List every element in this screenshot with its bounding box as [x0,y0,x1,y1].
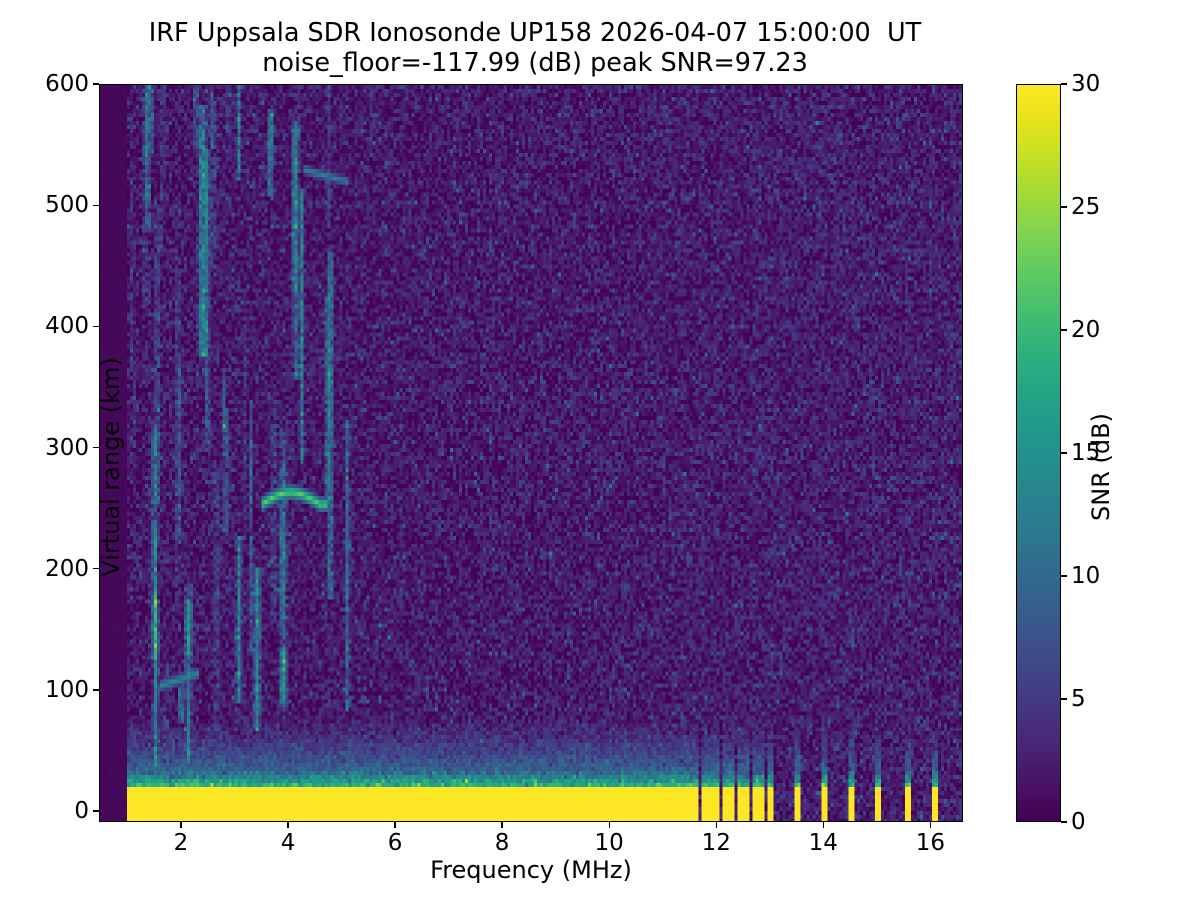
title-line-2: noise_floor=-117.99 (dB) peak SNR=97.23 [0,48,1070,78]
x-ticklabel-6: 6 [388,830,403,856]
y-ticklabel-300: 300 [45,435,89,461]
colorbar-ticklabel-5: 5 [1071,686,1086,712]
y-ticklabel-100: 100 [45,677,89,703]
figure-title: IRF Uppsala SDR Ionosonde UP158 2026-04-… [0,18,1070,78]
title-line-1: IRF Uppsala SDR Ionosonde UP158 2026-04-… [0,18,1070,48]
x-ticklabel-16: 16 [916,830,945,856]
x-ticklabel-8: 8 [495,830,510,856]
x-tick-14 [823,822,824,828]
y-tick-600 [93,83,99,84]
colorbar-ticklabel-30: 30 [1071,71,1100,97]
y-ticklabel-600: 600 [45,71,89,97]
colorbar-gradient [1017,85,1060,821]
colorbar-tick-5 [1061,698,1067,699]
colorbar-tick-15 [1061,452,1067,453]
x-ticklabel-12: 12 [702,830,731,856]
colorbar-tick-0 [1061,821,1067,822]
x-axis-label: Frequency (MHz) [99,856,963,884]
x-tick-12 [716,822,717,828]
x-ticklabel-14: 14 [809,830,838,856]
colorbar-tick-20 [1061,329,1067,330]
x-tick-10 [609,822,610,828]
y-tick-0 [93,810,99,811]
x-tick-6 [394,822,395,828]
y-ticklabel-200: 200 [45,556,89,582]
y-ticklabel-400: 400 [45,313,89,339]
x-tick-2 [180,822,181,828]
ionogram-figure: IRF Uppsala SDR Ionosonde UP158 2026-04-… [0,0,1200,900]
x-ticklabel-4: 4 [281,830,296,856]
y-axis-label: Virtual range (km) [97,167,125,767]
x-ticklabel-10: 10 [595,830,624,856]
x-tick-8 [501,822,502,828]
y-ticklabel-0: 0 [74,798,89,824]
y-ticklabel-500: 500 [45,192,89,218]
colorbar-label: SNR (dB) [1087,237,1115,697]
colorbar-ticklabel-0: 0 [1071,809,1086,835]
ionogram-axes [99,84,963,822]
colorbar-tick-10 [1061,575,1067,576]
colorbar [1016,84,1061,822]
colorbar-tick-30 [1061,83,1067,84]
colorbar-ticklabel-25: 25 [1071,194,1100,220]
x-tick-16 [930,822,931,828]
x-tick-4 [287,822,288,828]
x-ticklabel-2: 2 [174,830,189,856]
ionogram-heatmap [100,85,962,821]
colorbar-tick-25 [1061,206,1067,207]
